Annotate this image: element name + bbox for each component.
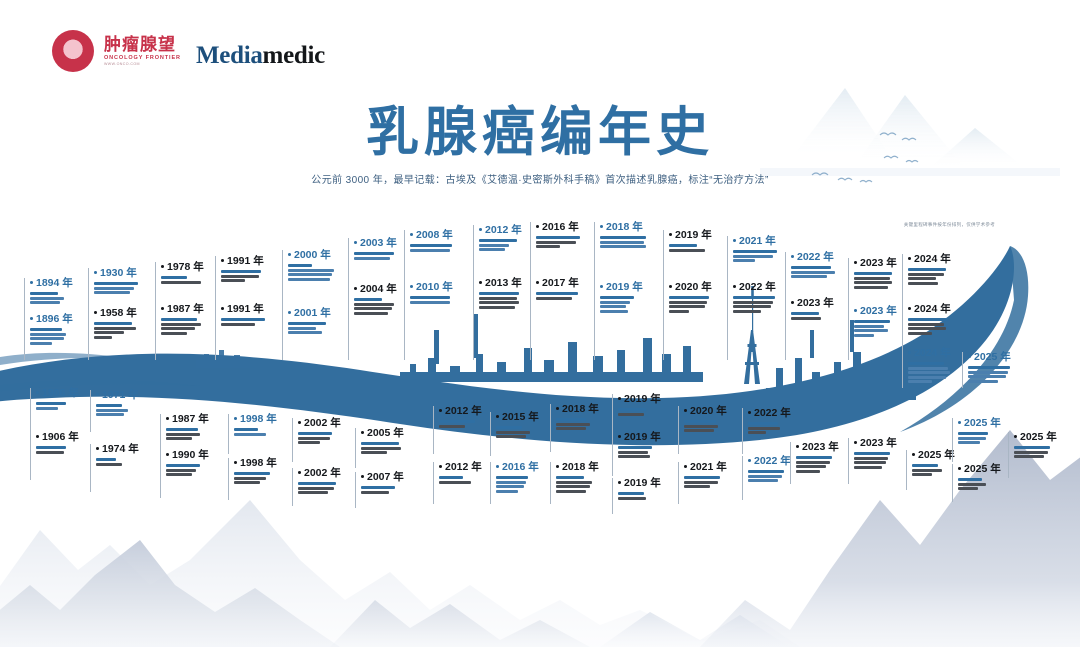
description-text-line xyxy=(30,333,66,336)
description-text-line xyxy=(30,292,58,295)
bullet-dot-icon xyxy=(361,475,364,478)
timeline-year-label: 2022 年 xyxy=(733,282,801,294)
description-text-line xyxy=(439,425,465,428)
timeline-year-label: 1991 年 xyxy=(221,304,289,316)
description-text-line xyxy=(161,318,197,321)
bullet-dot-icon xyxy=(600,225,603,228)
description-text-line xyxy=(479,297,517,300)
description-text-line xyxy=(618,408,646,411)
timeline-axis-rule xyxy=(952,418,953,462)
description-text-line xyxy=(234,472,270,475)
timeline-axis-rule xyxy=(355,472,356,508)
bullet-dot-icon xyxy=(288,253,291,256)
description-text-line xyxy=(496,476,528,479)
description-text-line xyxy=(968,375,1006,378)
bullet-dot-icon xyxy=(30,281,33,284)
bullet-dot-icon xyxy=(166,417,169,420)
description-text-line xyxy=(796,465,826,468)
description-text-line xyxy=(618,497,646,500)
bullet-dot-icon xyxy=(496,415,499,418)
description-text-line xyxy=(166,433,200,436)
description-text-line xyxy=(618,446,652,449)
timeline-entry[interactable]: 1991 年 xyxy=(215,256,289,284)
description-text-line xyxy=(733,255,773,258)
description-text-line xyxy=(684,429,714,432)
timeline-year-label: 2000 年 xyxy=(288,250,356,262)
timeline-entry[interactable]: 2025 年 xyxy=(952,464,1026,492)
description-text-line xyxy=(854,334,874,337)
description-text-line xyxy=(234,433,266,436)
description-text-line xyxy=(618,451,648,454)
timeline-year-label: 2025 年 xyxy=(1014,432,1080,444)
description-text-line xyxy=(288,273,332,276)
description-text-line xyxy=(439,476,463,479)
description-text-line xyxy=(600,305,626,308)
bullet-dot-icon xyxy=(908,257,911,260)
timeline-entry[interactable]: 2019 年 xyxy=(612,432,686,460)
description-text-line xyxy=(958,487,978,490)
timeline-entry[interactable]: 2008 年 xyxy=(404,230,478,253)
description-text-line xyxy=(796,456,832,459)
description-text-line xyxy=(556,423,590,426)
description-text-line xyxy=(288,278,330,281)
description-text-line xyxy=(684,485,710,488)
timeline-axis-rule xyxy=(490,462,491,504)
description-text-line xyxy=(36,451,64,454)
bullet-dot-icon xyxy=(96,393,99,396)
description-text-line xyxy=(166,428,198,431)
timeline-entry[interactable]: 1894 年 xyxy=(24,278,98,306)
description-text-line xyxy=(288,269,334,272)
description-text-line xyxy=(30,342,52,345)
timeline-entry-description xyxy=(958,478,1026,490)
timeline-entry[interactable]: 1987 年 xyxy=(160,414,234,442)
description-text-line xyxy=(854,325,884,328)
timeline-axis-rule xyxy=(24,314,25,360)
timeline-entry[interactable]: 2021 年 xyxy=(678,462,752,490)
description-text-line xyxy=(908,268,946,271)
timeline-entry-description xyxy=(410,296,478,304)
timeline-year-label: 2001 年 xyxy=(288,308,356,320)
description-text-line xyxy=(684,425,718,428)
timeline-axis-rule xyxy=(90,444,91,492)
timeline-entry[interactable]: 1991 年 xyxy=(215,304,289,327)
bullet-dot-icon xyxy=(94,271,97,274)
bullet-dot-icon xyxy=(161,307,164,310)
description-text-line xyxy=(161,323,201,326)
bullet-dot-icon xyxy=(854,441,857,444)
description-text-line xyxy=(669,249,705,252)
timeline-entry[interactable]: 2025 年 xyxy=(962,352,1036,384)
bullet-dot-icon xyxy=(410,285,413,288)
timeline-entry[interactable]: 1990 年 xyxy=(160,450,234,478)
timeline-axis-rule xyxy=(785,298,786,360)
page-header: 肿瘤腺望 ONCOLOGY FRONTIER WWW.ONCO.COM Medi… xyxy=(0,0,1080,95)
description-text-line xyxy=(94,291,130,294)
description-text-line xyxy=(36,407,58,410)
timeline-entry[interactable]: 1896 年 xyxy=(24,314,98,346)
description-text-line xyxy=(354,257,390,260)
timeline-entry[interactable]: 2016 年 xyxy=(530,222,604,250)
timeline-axis-rule xyxy=(848,438,849,484)
timeline-entry[interactable]: 2019 年 xyxy=(663,230,737,253)
timeline-entry[interactable]: 2019 年 xyxy=(612,394,686,417)
timeline-axis-rule xyxy=(663,282,664,360)
description-text-line xyxy=(854,329,888,332)
description-text-line xyxy=(669,301,707,304)
bullet-dot-icon xyxy=(536,225,539,228)
description-text-line xyxy=(618,413,644,416)
description-text-line xyxy=(669,305,705,308)
timeline-entry-description xyxy=(600,296,668,313)
timeline-entry[interactable]: 2024 年 xyxy=(902,304,976,336)
description-text-line xyxy=(556,427,586,430)
timeline-year-label: 1990 年 xyxy=(166,450,234,462)
timeline-entry[interactable]: 1998 年 xyxy=(228,414,302,437)
timeline-year-label: 2008 年 xyxy=(410,230,478,242)
description-text-line xyxy=(298,491,328,494)
description-text-line xyxy=(161,332,187,335)
bullet-dot-icon xyxy=(36,391,39,394)
description-text-line xyxy=(96,458,116,461)
timeline-axis-rule xyxy=(160,414,161,454)
description-text-line xyxy=(161,276,187,279)
description-text-line xyxy=(748,422,778,425)
description-text-line xyxy=(410,249,450,252)
description-text-line xyxy=(221,270,261,273)
description-text-line xyxy=(166,464,200,467)
bullet-dot-icon xyxy=(410,233,413,236)
description-text-line xyxy=(1014,446,1050,449)
timeline-entry[interactable]: 2005 年 xyxy=(355,428,429,456)
description-text-line xyxy=(968,380,998,383)
bullet-dot-icon xyxy=(618,435,621,438)
description-text-line xyxy=(600,245,646,248)
timeline-year-label: 2025 年 xyxy=(912,450,980,462)
bullet-dot-icon xyxy=(354,241,357,244)
description-text-line xyxy=(908,367,948,370)
timeline-year-label: 2024 年 xyxy=(908,304,976,316)
description-text-line xyxy=(298,441,320,444)
timeline-entry-description xyxy=(288,322,356,334)
description-text-line xyxy=(94,331,124,334)
timeline-axis-rule xyxy=(473,278,474,360)
timeline-year-label: 1958 年 xyxy=(94,308,162,320)
title-block: 乳腺癌编年史 公元前 3000 年，最早记载：古埃及《艾德温·史密斯外科手稿》首… xyxy=(0,103,1080,186)
timeline-axis-rule xyxy=(594,282,595,360)
description-text-line xyxy=(556,490,586,493)
description-text-line xyxy=(908,332,932,335)
timeline-axis-rule xyxy=(550,462,551,504)
timeline-entry-description xyxy=(968,366,1036,383)
bullet-dot-icon xyxy=(479,228,482,231)
timeline-entry[interactable]: 2001 年 xyxy=(282,308,356,336)
description-text-line xyxy=(234,428,258,431)
timeline-year-label: 2025 年 xyxy=(958,464,1026,476)
description-text-line xyxy=(908,376,946,379)
description-text-line xyxy=(94,327,136,330)
timeline-entry-description xyxy=(908,318,976,335)
bullet-dot-icon xyxy=(748,411,751,414)
timeline-axis-rule xyxy=(355,428,356,468)
description-text-line xyxy=(908,318,948,321)
bullet-dot-icon xyxy=(669,285,672,288)
description-text-line xyxy=(36,446,66,449)
bullet-dot-icon xyxy=(36,435,39,438)
timeline-year-label: 2025 年 xyxy=(968,352,1036,364)
description-text-line xyxy=(748,427,780,430)
description-text-line xyxy=(354,252,394,255)
timeline-entry[interactable]: 2018 年 xyxy=(594,222,668,250)
description-text-line xyxy=(30,337,64,340)
timeline-year-label: 1971 年 xyxy=(96,390,164,402)
description-text-line xyxy=(908,282,938,285)
description-text-line xyxy=(96,413,124,416)
timeline-axis-rule xyxy=(612,432,613,476)
bullet-dot-icon xyxy=(733,239,736,242)
timeline-entry-description xyxy=(166,464,234,476)
timeline-axis-rule xyxy=(678,462,679,504)
timeline-axis-rule xyxy=(790,442,791,484)
timeline-axis-rule xyxy=(30,432,31,480)
timeline-axis-rule xyxy=(952,464,953,502)
timeline-entry[interactable]: 1930 年 xyxy=(88,268,162,296)
description-text-line xyxy=(496,481,526,484)
description-text-line xyxy=(166,437,192,440)
timeline-entry[interactable]: 1971 年 xyxy=(90,390,164,418)
description-text-line xyxy=(354,298,382,301)
timeline-axis-rule xyxy=(160,450,161,498)
description-text-line xyxy=(30,301,60,304)
description-text-line xyxy=(791,266,831,269)
description-text-line xyxy=(748,479,778,482)
description-text-line xyxy=(536,297,572,300)
description-text-line xyxy=(479,301,519,304)
description-text-line xyxy=(221,279,245,282)
description-text-line xyxy=(854,452,890,455)
description-text-line xyxy=(1014,451,1048,454)
description-text-line xyxy=(94,336,112,339)
timeline-entry-description xyxy=(618,446,686,458)
bullet-dot-icon xyxy=(30,317,33,320)
timeline-entry[interactable]: 2010 年 xyxy=(404,282,478,305)
description-text-line xyxy=(354,303,394,306)
description-text-line xyxy=(733,296,775,299)
description-text-line xyxy=(288,264,312,267)
timeline-entry[interactable]: 2019 年 xyxy=(594,282,668,314)
description-text-line xyxy=(618,455,650,458)
description-text-line xyxy=(234,477,266,480)
description-text-line xyxy=(854,286,888,289)
timeline-entry-description xyxy=(361,442,429,454)
bullet-dot-icon xyxy=(288,311,291,314)
description-text-line xyxy=(161,327,195,330)
timeline-axis-rule xyxy=(90,390,91,432)
timeline-axis-rule xyxy=(727,282,728,360)
description-text-line xyxy=(361,491,389,494)
logo-url: WWW.ONCO.COM xyxy=(104,62,181,66)
timeline-entry-description xyxy=(96,404,164,416)
description-text-line xyxy=(1014,455,1044,458)
description-text-line xyxy=(288,322,326,325)
description-text-line xyxy=(669,296,709,299)
timeline-axis-rule xyxy=(88,308,89,360)
timeline-entry[interactable]: 2025 年 xyxy=(1008,432,1080,460)
timeline-entry[interactable]: 1958 年 xyxy=(88,308,162,340)
bullet-dot-icon xyxy=(791,301,794,304)
timeline-axis-rule xyxy=(962,352,963,388)
timeline-year-label: 2018 年 xyxy=(556,462,624,474)
description-text-line xyxy=(94,322,132,325)
bullet-dot-icon xyxy=(439,409,442,412)
description-text-line xyxy=(354,307,392,310)
bullet-dot-icon xyxy=(1014,435,1017,438)
timeline-year-label: 1906 年 xyxy=(36,432,104,444)
description-text-line xyxy=(94,282,138,285)
timeline-axis-rule xyxy=(433,462,434,504)
bullet-dot-icon xyxy=(912,453,915,456)
timeline-year-label: 2005 年 xyxy=(361,428,429,440)
timeline-axis-rule xyxy=(902,348,903,388)
timeline-entry[interactable]: 2019 年 xyxy=(612,478,686,501)
timeline-axis-rule xyxy=(678,406,679,454)
description-text-line xyxy=(96,409,128,412)
bullet-dot-icon xyxy=(854,309,857,312)
bullet-dot-icon xyxy=(684,465,687,468)
timeline-axis-rule xyxy=(550,404,551,452)
description-text-line xyxy=(748,431,766,434)
description-text-line xyxy=(600,241,644,244)
description-text-line xyxy=(298,432,332,435)
timeline-entry[interactable]: 1998 年 xyxy=(228,458,302,486)
bullet-dot-icon xyxy=(96,447,99,450)
bullet-dot-icon xyxy=(166,453,169,456)
bullet-dot-icon xyxy=(908,307,911,310)
bullet-dot-icon xyxy=(439,465,442,468)
description-text-line xyxy=(854,277,890,280)
timeline-year-label: 2019 年 xyxy=(618,478,686,490)
bullet-dot-icon xyxy=(908,351,911,354)
description-text-line xyxy=(958,437,986,440)
bullet-dot-icon xyxy=(618,481,621,484)
description-text-line xyxy=(796,470,820,473)
description-text-line xyxy=(361,447,401,450)
description-text-line xyxy=(556,476,584,479)
timeline-year-label: 2022 年 xyxy=(748,408,816,420)
timeline-entry[interactable]: 2020 年 xyxy=(678,406,752,434)
bullet-dot-icon xyxy=(556,465,559,468)
timeline-entry[interactable]: 2017 年 xyxy=(530,278,604,301)
bullet-dot-icon xyxy=(234,417,237,420)
description-text-line xyxy=(410,244,452,247)
bullet-dot-icon xyxy=(854,261,857,264)
description-text-line xyxy=(479,239,517,242)
description-text-line xyxy=(496,485,524,488)
description-text-line xyxy=(479,292,519,295)
timeline-year-label: 2018 年 xyxy=(600,222,668,234)
description-text-line xyxy=(600,301,630,304)
timeline-entry[interactable]: 2020 年 xyxy=(663,282,737,314)
description-text-line xyxy=(30,297,64,300)
timeline-entry[interactable]: 2007 年 xyxy=(355,472,429,495)
bullet-dot-icon xyxy=(556,407,559,410)
timeline-year-label: 1991 年 xyxy=(221,256,289,268)
timeline-axis-rule xyxy=(742,456,743,500)
partner-brand-logo[interactable]: Mediamedic xyxy=(196,42,325,70)
bullet-dot-icon xyxy=(796,445,799,448)
timeline-entry[interactable]: 2000 年 xyxy=(282,250,356,282)
partner-brand-part2: medic xyxy=(263,42,325,69)
description-text-line xyxy=(908,371,950,374)
description-text-line xyxy=(496,435,526,438)
bullet-dot-icon xyxy=(479,281,482,284)
timeline-axis-rule xyxy=(1008,432,1009,478)
description-text-line xyxy=(354,312,388,315)
infographic-canvas: 肿瘤腺望 ONCOLOGY FRONTIER WWW.ONCO.COM Medi… xyxy=(0,0,1080,647)
description-text-line xyxy=(298,437,330,440)
description-text-line xyxy=(479,306,515,309)
timeline-entry-description xyxy=(361,486,429,494)
description-text-line xyxy=(912,464,938,467)
description-text-line xyxy=(30,328,62,331)
timeline-entry-description xyxy=(600,236,668,248)
timeline-entry-description xyxy=(96,458,164,466)
description-text-line xyxy=(410,296,450,299)
oncology-frontier-seal-icon xyxy=(52,30,94,72)
timeline-entry[interactable]: 1974 年 xyxy=(90,444,164,467)
bullet-dot-icon xyxy=(496,465,499,468)
timeline-axis-rule xyxy=(433,406,434,454)
partner-brand-part1: Media xyxy=(196,42,263,69)
timeline-entry-description xyxy=(410,244,478,252)
timeline-axis-rule xyxy=(906,450,907,490)
timeline-axis-rule xyxy=(30,388,31,432)
bullet-dot-icon xyxy=(684,409,687,412)
description-text-line xyxy=(791,271,835,274)
timeline-axis-rule xyxy=(292,418,293,462)
timeline-axis-rule xyxy=(228,414,229,454)
description-text-line xyxy=(733,250,777,253)
description-text-line xyxy=(536,292,578,295)
description-text-line xyxy=(166,469,196,472)
timeline-axis-rule xyxy=(490,412,491,456)
description-text-line xyxy=(908,327,946,330)
description-text-line xyxy=(912,473,932,476)
timeline-entry[interactable]: 2024 年 xyxy=(902,254,976,286)
timeline-axis-rule xyxy=(848,306,849,360)
timeline-entry-description xyxy=(94,322,162,339)
bullet-dot-icon xyxy=(354,287,357,290)
description-text-line xyxy=(748,475,782,478)
timeline-entry-description xyxy=(94,282,162,294)
timeline-entry[interactable]: 2022 年 xyxy=(742,408,816,436)
timeline-axis-rule xyxy=(215,304,216,360)
timeline-axis-rule xyxy=(348,284,349,360)
description-text-line xyxy=(958,478,982,481)
description-text-line xyxy=(854,461,886,464)
bullet-dot-icon xyxy=(958,467,961,470)
logo-name-en: ONCOLOGY FRONTIER xyxy=(104,55,181,61)
page-title: 乳腺癌编年史 xyxy=(0,103,1080,162)
brand-logo[interactable]: 肿瘤腺望 ONCOLOGY FRONTIER WWW.ONCO.COM xyxy=(52,30,181,72)
timeline-year-label: 2019 年 xyxy=(618,394,686,406)
timeline-axis-rule xyxy=(742,408,743,454)
bullet-dot-icon xyxy=(298,421,301,424)
description-text-line xyxy=(536,241,576,244)
timeline-axis-rule xyxy=(404,282,405,360)
timeline-axis-rule xyxy=(530,278,531,360)
description-text-line xyxy=(536,236,580,239)
